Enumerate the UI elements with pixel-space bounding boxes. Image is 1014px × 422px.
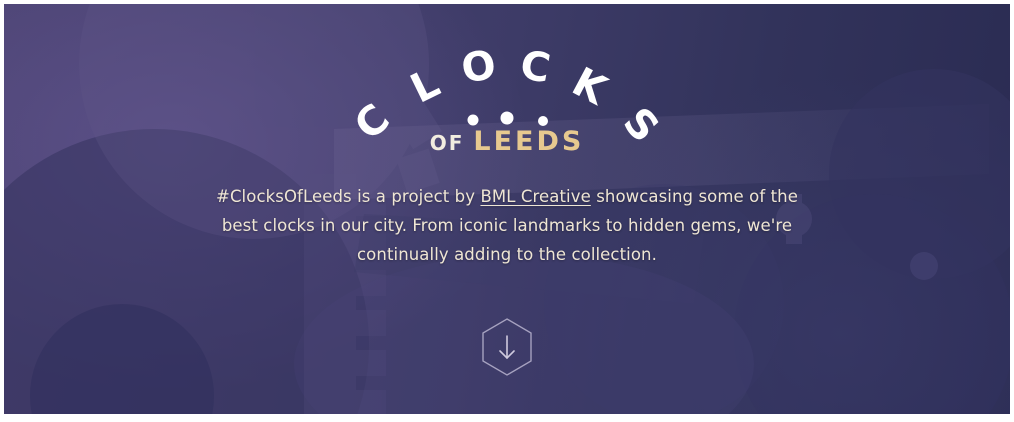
logo-clockface-dots <box>468 112 549 127</box>
logo-dot-2 <box>501 112 514 125</box>
logo-letter-5: K <box>565 59 616 115</box>
logo-dot-3 <box>538 116 548 126</box>
logo-subtitle-leeds: LEEDS <box>473 126 584 157</box>
hero-section: C L O C K S <box>4 4 1010 414</box>
intro-text-before-link: #ClocksOfLeeds is a project by <box>216 187 480 206</box>
logo-letter-4: C <box>517 42 554 92</box>
logo-dot-1 <box>468 115 479 126</box>
bml-creative-link[interactable]: BML Creative <box>480 187 590 206</box>
logo-subtitle-of: OF <box>430 131 465 155</box>
arrow-down-icon <box>500 336 514 358</box>
page-frame: C L O C K S <box>0 0 1014 422</box>
scroll-down-button[interactable] <box>479 316 535 378</box>
logo-letter-3: O <box>458 42 499 93</box>
logo-letter-2: L <box>404 60 447 113</box>
logo-subtitle: OFLEEDS <box>357 126 657 157</box>
site-logo: C L O C K S <box>357 40 657 160</box>
intro-paragraph: #ClocksOfLeeds is a project by BML Creat… <box>202 182 812 269</box>
scroll-down-wrapper <box>4 316 1010 378</box>
